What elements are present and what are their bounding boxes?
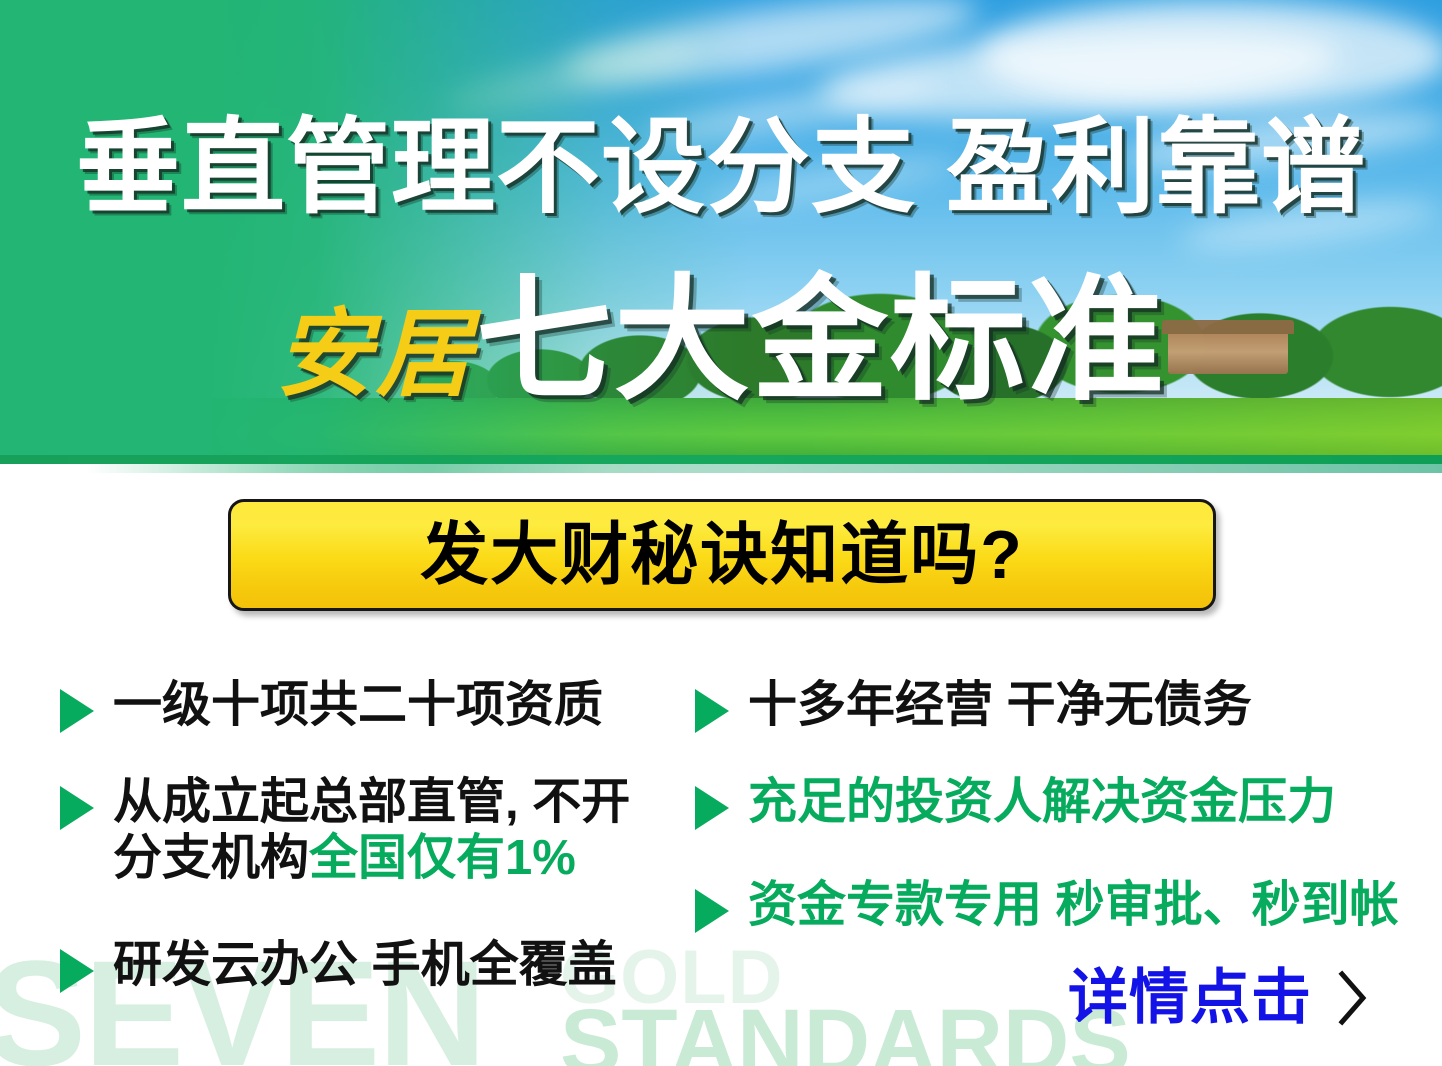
watermark-standards: STANDARDS xyxy=(560,996,1131,1066)
features-section: 一级十项共二十项资质 从成立起总部直管, 不开 分支机构全国仅有1% 研发云办公… xyxy=(0,660,1442,1000)
feature-label: 充足的投资人解决资金压力 xyxy=(748,775,1336,831)
feature-label: 研发云办公 手机全覆盖 xyxy=(113,938,617,994)
green-bottom-band xyxy=(0,455,1442,464)
play-triangle-icon xyxy=(695,786,729,830)
details-link[interactable]: 详情点击 xyxy=(1068,968,1370,1028)
feature-label-line1: 从成立起总部直管, 不开 xyxy=(113,775,630,829)
feature-label-line2-prefix: 分支机构 xyxy=(113,831,309,885)
play-triangle-icon xyxy=(60,786,94,830)
headline-secondary: 安居七大金标准 xyxy=(0,272,1442,408)
feature-item: 十多年经营 干净无债务 xyxy=(695,678,1252,734)
hero-divider xyxy=(0,464,1442,473)
headline-kicker: 安居 xyxy=(276,301,476,408)
play-triangle-icon xyxy=(695,689,729,733)
feature-item: 资金专款专用 秒审批、秒到帐 xyxy=(695,878,1399,934)
feature-item: 一级十项共二十项资质 xyxy=(60,678,603,734)
feature-label: 资金专款专用 秒审批、秒到帐 xyxy=(748,878,1399,934)
headline-primary: 垂直管理不设分支 盈利靠谱 xyxy=(0,116,1442,220)
highlight-question-bar[interactable]: 发大财秘诀知道吗? xyxy=(228,499,1216,611)
feature-label: 一级十项共二十项资质 xyxy=(113,678,603,734)
feature-label: 十多年经营 干净无债务 xyxy=(748,678,1252,734)
feature-item: 研发云办公 手机全覆盖 xyxy=(60,938,617,994)
hero-section: 垂直管理不设分支 盈利靠谱 安居七大金标准 xyxy=(0,0,1442,473)
headline-secondary-main: 七大金标准 xyxy=(476,264,1166,416)
play-triangle-icon xyxy=(60,949,94,993)
details-link-label: 详情点击 xyxy=(1068,968,1312,1028)
play-triangle-icon xyxy=(695,889,729,933)
chevron-right-icon xyxy=(1336,969,1370,1027)
feature-label-multiline: 从成立起总部直管, 不开 分支机构全国仅有1% xyxy=(113,775,630,887)
highlight-question-label: 发大财秘诀知道吗? xyxy=(420,521,1024,589)
feature-item: 从成立起总部直管, 不开 分支机构全国仅有1% xyxy=(60,775,630,887)
feature-label-line2-highlight: 全国仅有1% xyxy=(309,831,576,885)
play-triangle-icon xyxy=(60,689,94,733)
feature-item: 充足的投资人解决资金压力 xyxy=(695,775,1336,831)
promo-banner: 垂直管理不设分支 盈利靠谱 安居七大金标准 发大财秘诀知道吗? SEVEN GO… xyxy=(0,0,1442,1066)
